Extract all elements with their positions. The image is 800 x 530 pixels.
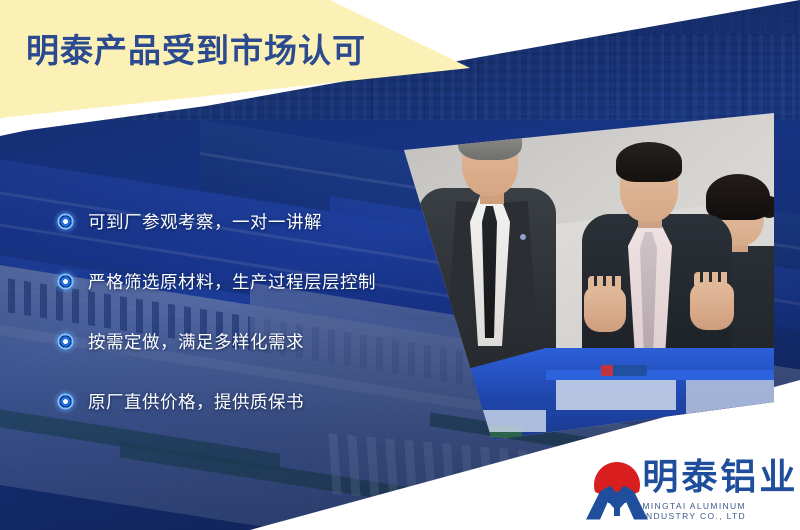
logo-text-block: 明泰铝业 MINGTAI ALUMINUM INDUSTRY CO., LTD [642, 460, 800, 521]
logo-cross-vertical [614, 492, 620, 516]
target-circle-icon [56, 212, 75, 231]
factory-wall-logo [601, 365, 647, 376]
target-circle-icon [56, 392, 75, 411]
company-name-en: MINGTAI ALUMINUM INDUSTRY CO., LTD [642, 501, 800, 521]
company-name-cn: 明泰铝业 [642, 460, 800, 496]
feature-text: 按需定做，满足多样化需求 [88, 329, 304, 354]
list-item: 按需定做，满足多样化需求 [56, 328, 396, 354]
gesturing-hand-right [690, 282, 734, 330]
factory-building [556, 376, 676, 410]
list-item: 严格筛选原材料，生产过程层层控制 [56, 268, 396, 294]
page-title: 明泰产品受到市场认可 [26, 24, 366, 72]
lapel-pin [520, 234, 526, 240]
logo-cross-bar [608, 498, 626, 503]
factory-roofline [546, 370, 774, 380]
company-logo: 明泰铝业 MINGTAI ALUMINUM INDUSTRY CO., LTD [586, 460, 800, 521]
mingtai-sun-mountain-logo-icon [586, 462, 632, 520]
target-circle-icon [56, 332, 75, 351]
fingers [694, 272, 730, 288]
list-item: 可到厂参观考察，一对一讲解 [56, 208, 396, 234]
feature-list: 可到厂参观考察，一对一讲解 严格筛选原材料，生产过程层层控制 按需定做，满足多样… [56, 208, 396, 448]
feature-text: 严格筛选原材料，生产过程层层控制 [88, 269, 376, 294]
feature-text: 可到厂参观考察，一对一讲解 [88, 209, 322, 234]
gesturing-hand-left [584, 286, 626, 332]
target-circle-icon [56, 272, 75, 291]
fingers [588, 276, 624, 292]
feature-text: 原厂直供价格，提供质保书 [88, 389, 304, 414]
promo-banner: 明泰产品受到市场认可 可到厂参观考察，一对一讲解 严格筛选原材料，生产过程层层控… [0, 0, 800, 530]
person-center-hair [616, 142, 682, 182]
person-right-hair [706, 174, 770, 220]
list-item: 原厂直供价格，提供质保书 [56, 388, 396, 414]
